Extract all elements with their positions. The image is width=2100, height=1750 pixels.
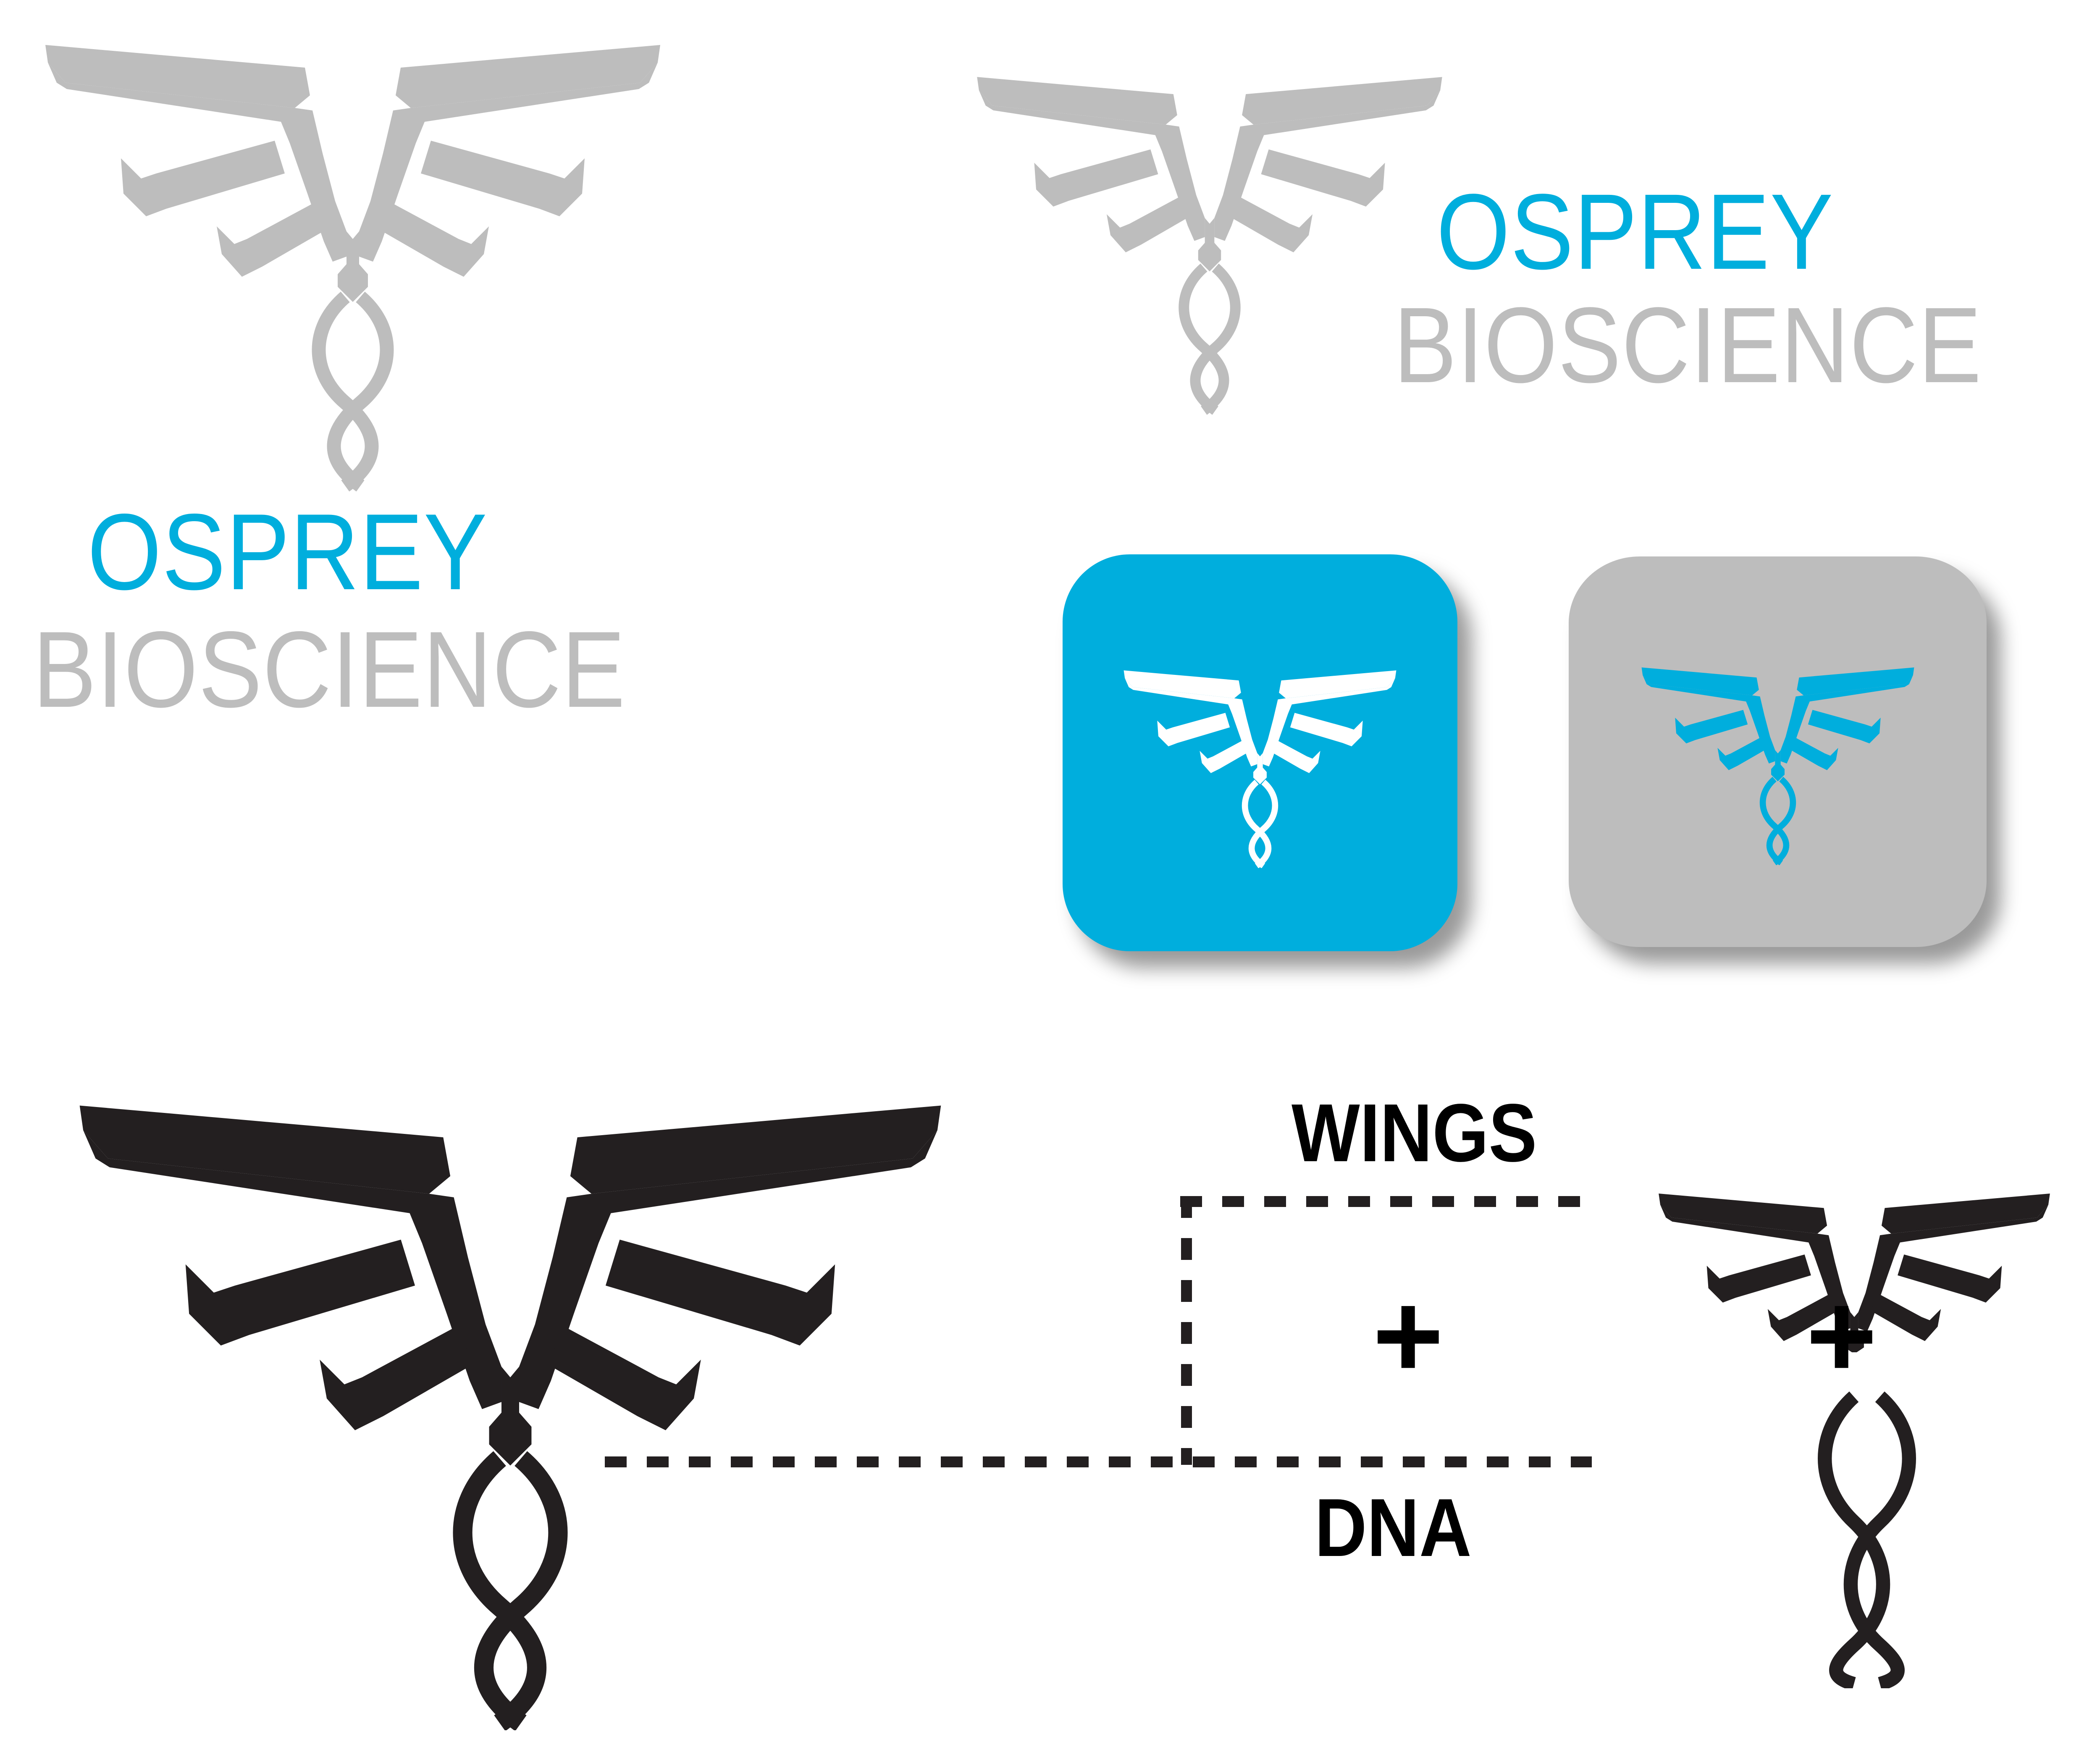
diagram-dashed-line-top: [1180, 1196, 1592, 1207]
app-icon-tile-cyan[interactable]: [1063, 554, 1457, 951]
wordmark-osprey-primary: OSPREY: [87, 504, 542, 599]
osprey-caduceus-mark-gray: [25, 17, 680, 491]
wordmark-bioscience-secondary: BIOSCIENCE: [1394, 298, 2062, 393]
osprey-caduceus-mark-gray-small: [962, 50, 1457, 420]
label-dna: DNA: [1315, 1487, 1493, 1569]
wordmark-bioscience-text-2: BIOSCIENCE: [1394, 298, 1982, 393]
wordmark-osprey-text-2: OSPREY: [1436, 185, 1834, 279]
formula-plus-text-2: +: [1806, 1267, 1877, 1404]
osprey-caduceus-mark-cyan: [1631, 655, 1925, 865]
wordmark-bioscience-primary: BIOSCIENCE: [33, 622, 706, 717]
wordmark-osprey-secondary: OSPREY: [1436, 185, 1888, 279]
formula-plus-text: +: [1373, 1267, 1444, 1404]
label-dna-text: DNA: [1315, 1487, 1472, 1569]
formula-plus-sign-box: +: [1373, 1275, 1444, 1396]
brand-sheet-canvas: OSPREY BIOSCIENCE: [0, 0, 2100, 1750]
wordmark-osprey-text: OSPREY: [87, 504, 488, 599]
osprey-caduceus-mark-white: [1113, 658, 1407, 868]
osprey-dna-helix-only-black: [1800, 1386, 1934, 1688]
label-wings-text: WINGS: [1291, 1092, 1537, 1174]
app-icon-tile-gray[interactable]: [1569, 556, 1987, 947]
logo-horizontal-lockup[interactable]: OSPREY BIOSCIENCE: [962, 50, 2079, 454]
diagram-dashed-line-left: [1181, 1196, 1192, 1465]
osprey-caduceus-mark-black-large: [38, 1067, 983, 1730]
label-wings: WINGS: [1291, 1092, 1570, 1174]
wordmark-bioscience-text: BIOSCIENCE: [33, 622, 626, 717]
formula-plus-sign-mark: +: [1806, 1275, 1877, 1396]
logo-stacked-lockup[interactable]: OSPREY BIOSCIENCE: [25, 17, 680, 743]
diagram-dashed-line-bottom: [605, 1456, 1592, 1467]
